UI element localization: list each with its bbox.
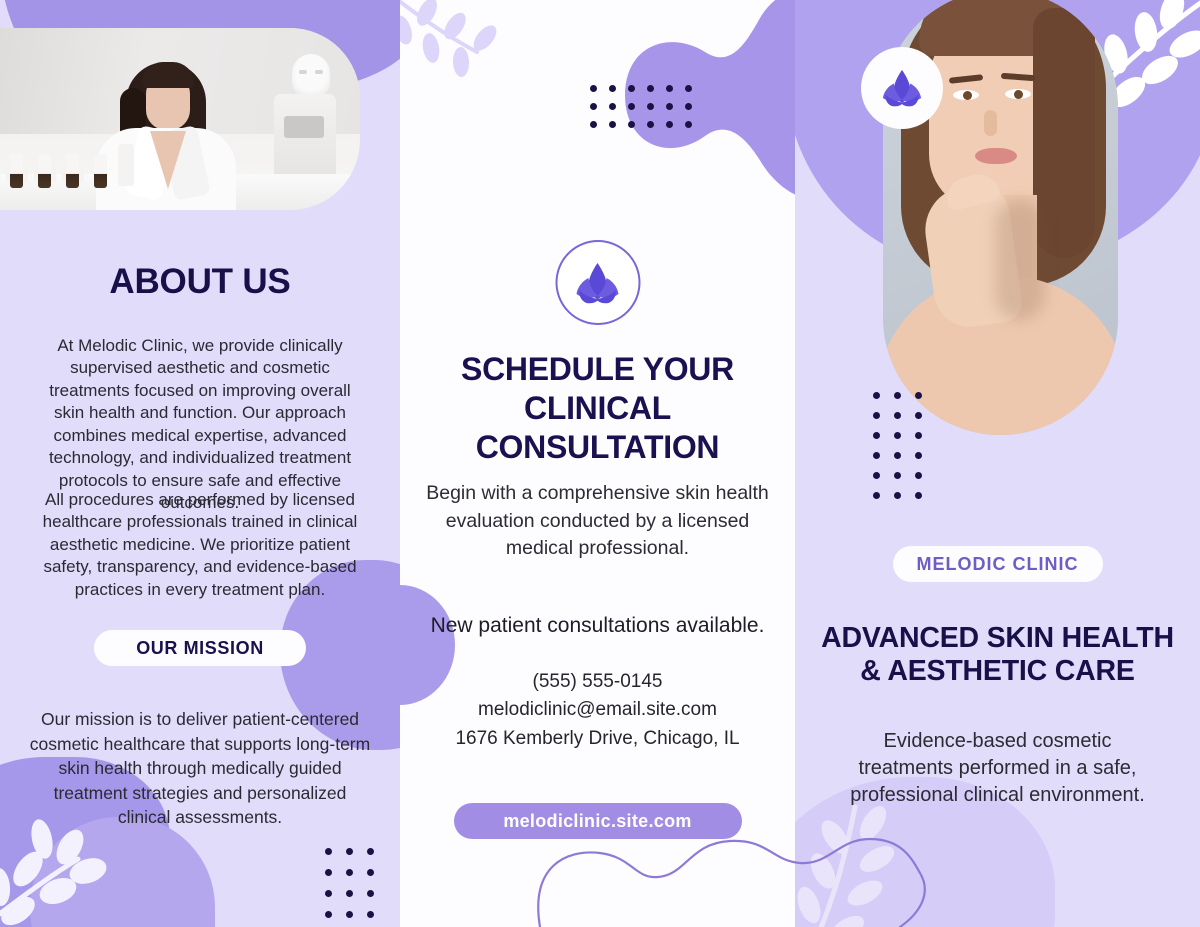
our-mission-label-text: OUR MISSION (136, 638, 264, 659)
cover-headline: ADVANCED SKIN HEALTH & AESTHETIC CARE (795, 622, 1200, 688)
contact-block: (555) 555-0145 melodiclinic@email.site.c… (424, 668, 771, 752)
leaf-branch-icon-center (400, 0, 510, 85)
leaf-branch-icon-cover-bottom (795, 797, 965, 927)
decorative-blob-center-top (565, 0, 795, 200)
clinic-name-pill: MELODIC CLINIC (893, 546, 1103, 582)
led-mask-icon (292, 54, 330, 98)
website-button[interactable]: melodiclinic.site.com (454, 803, 742, 839)
phone-number[interactable]: (555) 555-0145 (424, 668, 771, 696)
lotus-badge (861, 47, 943, 129)
treatment-device (274, 94, 336, 186)
panel-consultation: SCHEDULE YOUR CLINICAL CONSULTATION Begi… (400, 0, 795, 927)
mission-paragraph: Our mission is to deliver patient-center… (0, 707, 400, 830)
about-paragraph-1: At Melodic Clinic, we provide clinically… (0, 335, 400, 515)
lotus-icon (573, 261, 623, 305)
clinician-photo (0, 28, 360, 210)
cover-subtext: Evidence-based cosmetic treatments perfo… (795, 728, 1200, 809)
clinic-name-text: MELODIC CLINIC (917, 554, 1079, 575)
headline-line-2: CLINICAL CONSULTATION (476, 390, 719, 465)
our-mission-label: OUR MISSION (94, 630, 306, 666)
headline-line-1: SCHEDULE YOUR (461, 351, 734, 387)
about-paragraph-2: All procedures are performed by licensed… (0, 489, 400, 601)
lotus-icon (879, 68, 925, 108)
consultation-subtitle: Begin with a comprehensive skin health e… (424, 480, 771, 563)
availability-text: New patient consultations available. (424, 613, 771, 638)
street-address: 1676 Kemberly Drive, Chicago, IL (424, 725, 771, 753)
panel-cover: MELODIC CLINIC ADVANCED SKIN HEALTH & AE… (795, 0, 1200, 927)
page-title: ABOUT US (0, 262, 400, 302)
cover-headline-line-1: ADVANCED SKIN HEALTH (821, 622, 1174, 654)
email-address[interactable]: melodiclinic@email.site.com (424, 696, 771, 724)
website-button-label: melodiclinic.site.com (503, 811, 691, 832)
lotus-logo-circle (555, 240, 640, 325)
consultation-headline: SCHEDULE YOUR CLINICAL CONSULTATION (424, 350, 771, 467)
cover-headline-line-2: & AESTHETIC CARE (860, 655, 1134, 687)
panel-about-us: ABOUT US At Melodic Clinic, we provide c… (0, 0, 400, 927)
brochure-trifold: ABOUT US At Melodic Clinic, we provide c… (0, 0, 1200, 927)
